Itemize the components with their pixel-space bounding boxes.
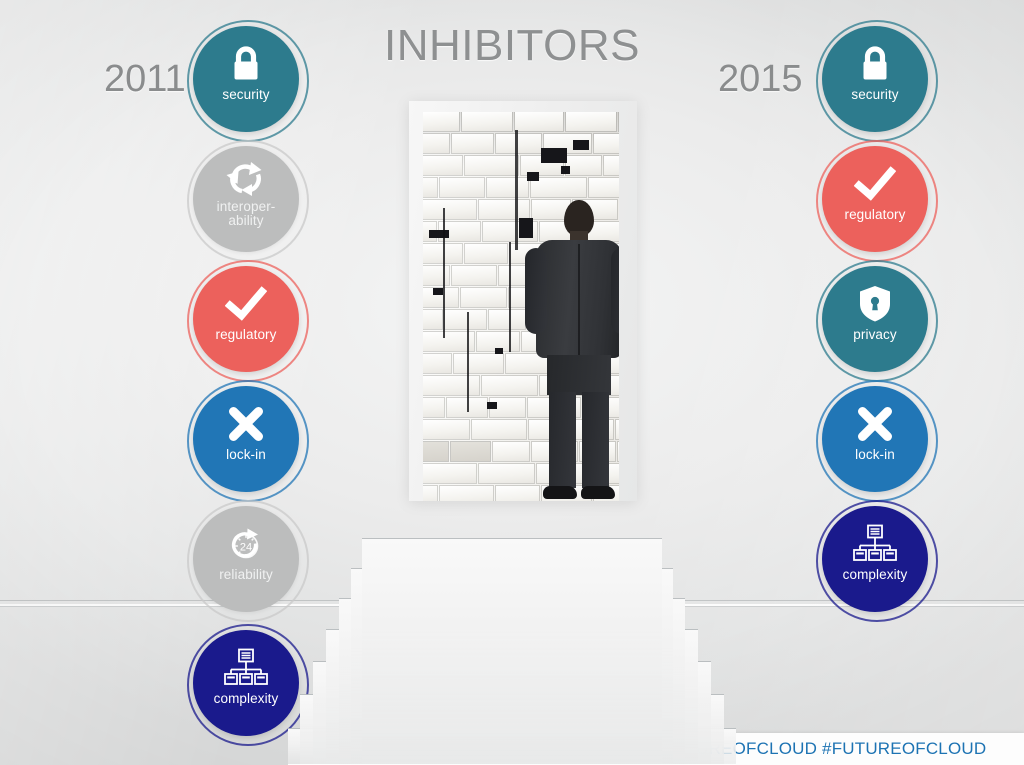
brick [452,134,493,153]
badge-left-reliability[interactable]: 24 reliability [193,506,299,612]
badge-right-lock-in[interactable]: lock-in [822,386,928,492]
brick [604,156,619,175]
badge-left-interoper-ability[interactable]: interoper-ability [193,146,299,252]
brick [423,442,448,461]
brick [462,112,512,131]
brick-hole [495,348,503,354]
wall-crack [515,130,518,250]
badge-label: lock-in [855,448,895,462]
x-cross-icon [223,402,269,446]
brick [487,178,528,197]
stair-step [362,538,662,765]
brick-hole [433,288,443,295]
brick [594,134,619,153]
brick [423,266,449,285]
badge-right-security[interactable]: security [822,26,928,132]
doorway-niche [409,101,637,501]
businessman-figure [519,200,619,501]
badge-label: privacy [853,328,896,342]
lock-icon [223,42,269,86]
brick [423,112,459,131]
brick [472,420,526,439]
wall-crack [443,208,445,338]
brick [566,112,616,131]
brick [423,376,479,395]
badge-label: complexity [214,692,279,706]
badge-label: regulatory [215,328,276,342]
brick [423,464,476,483]
brick [531,178,586,197]
badge-right-privacy[interactable]: privacy [822,266,928,372]
badge-label: security [851,88,898,102]
brick-hole [573,140,589,150]
brick [440,178,484,197]
brick [566,156,601,175]
lock-icon [852,42,898,86]
hierarchy-icon [223,646,269,690]
check-icon [852,162,898,206]
brick [423,486,437,501]
brick [423,200,476,219]
x-cross-icon [852,402,898,446]
badge-label: lock-in [226,448,266,462]
brick [589,178,619,197]
clock-24-icon: 24 [223,522,269,566]
badge-left-security[interactable]: security [193,26,299,132]
brick [423,310,442,329]
brick [452,266,496,285]
svg-text:24: 24 [240,542,252,554]
brick [496,134,541,153]
brick-hole [541,148,567,163]
brick [423,398,444,417]
badge-left-complexity[interactable]: complexity [193,630,299,736]
badge-left-lock-in[interactable]: lock-in [193,386,299,492]
badge-label: reliability [219,568,273,582]
badge-label: interoper-ability [217,200,276,228]
brick-hole [561,166,570,174]
badge-label: complexity [843,568,908,582]
brick [440,486,493,501]
brick [515,112,563,131]
badge-right-complexity[interactable]: complexity [822,506,928,612]
brick [423,178,437,197]
wall-crack [467,312,469,412]
brick [423,156,462,175]
brick [451,442,490,461]
badge-label: regulatory [844,208,905,222]
brick-hole [429,230,449,238]
brick [454,354,503,373]
check-icon [223,282,269,326]
brick [423,420,469,439]
doorway-opening [423,112,619,501]
badge-right-regulatory[interactable]: regulatory [822,146,928,252]
brick [465,156,518,175]
brick [445,310,486,329]
brick [461,288,506,307]
brick-hole [487,402,497,409]
wall-crack [509,242,511,352]
badge-left-regulatory[interactable]: regulatory [193,266,299,372]
badge-label: security [222,88,269,102]
brick [465,244,507,263]
hierarchy-icon [852,522,898,566]
slide-canvas: INHIBITORS 2011 2015 security interoper-… [0,0,1024,765]
year-label-2011: 2011 [104,58,186,101]
shield-icon [852,282,898,326]
brick-hole [527,172,539,181]
year-label-2015: 2015 [718,58,803,101]
brick [423,354,451,373]
brick [423,134,449,153]
recycle-icon [223,158,269,198]
